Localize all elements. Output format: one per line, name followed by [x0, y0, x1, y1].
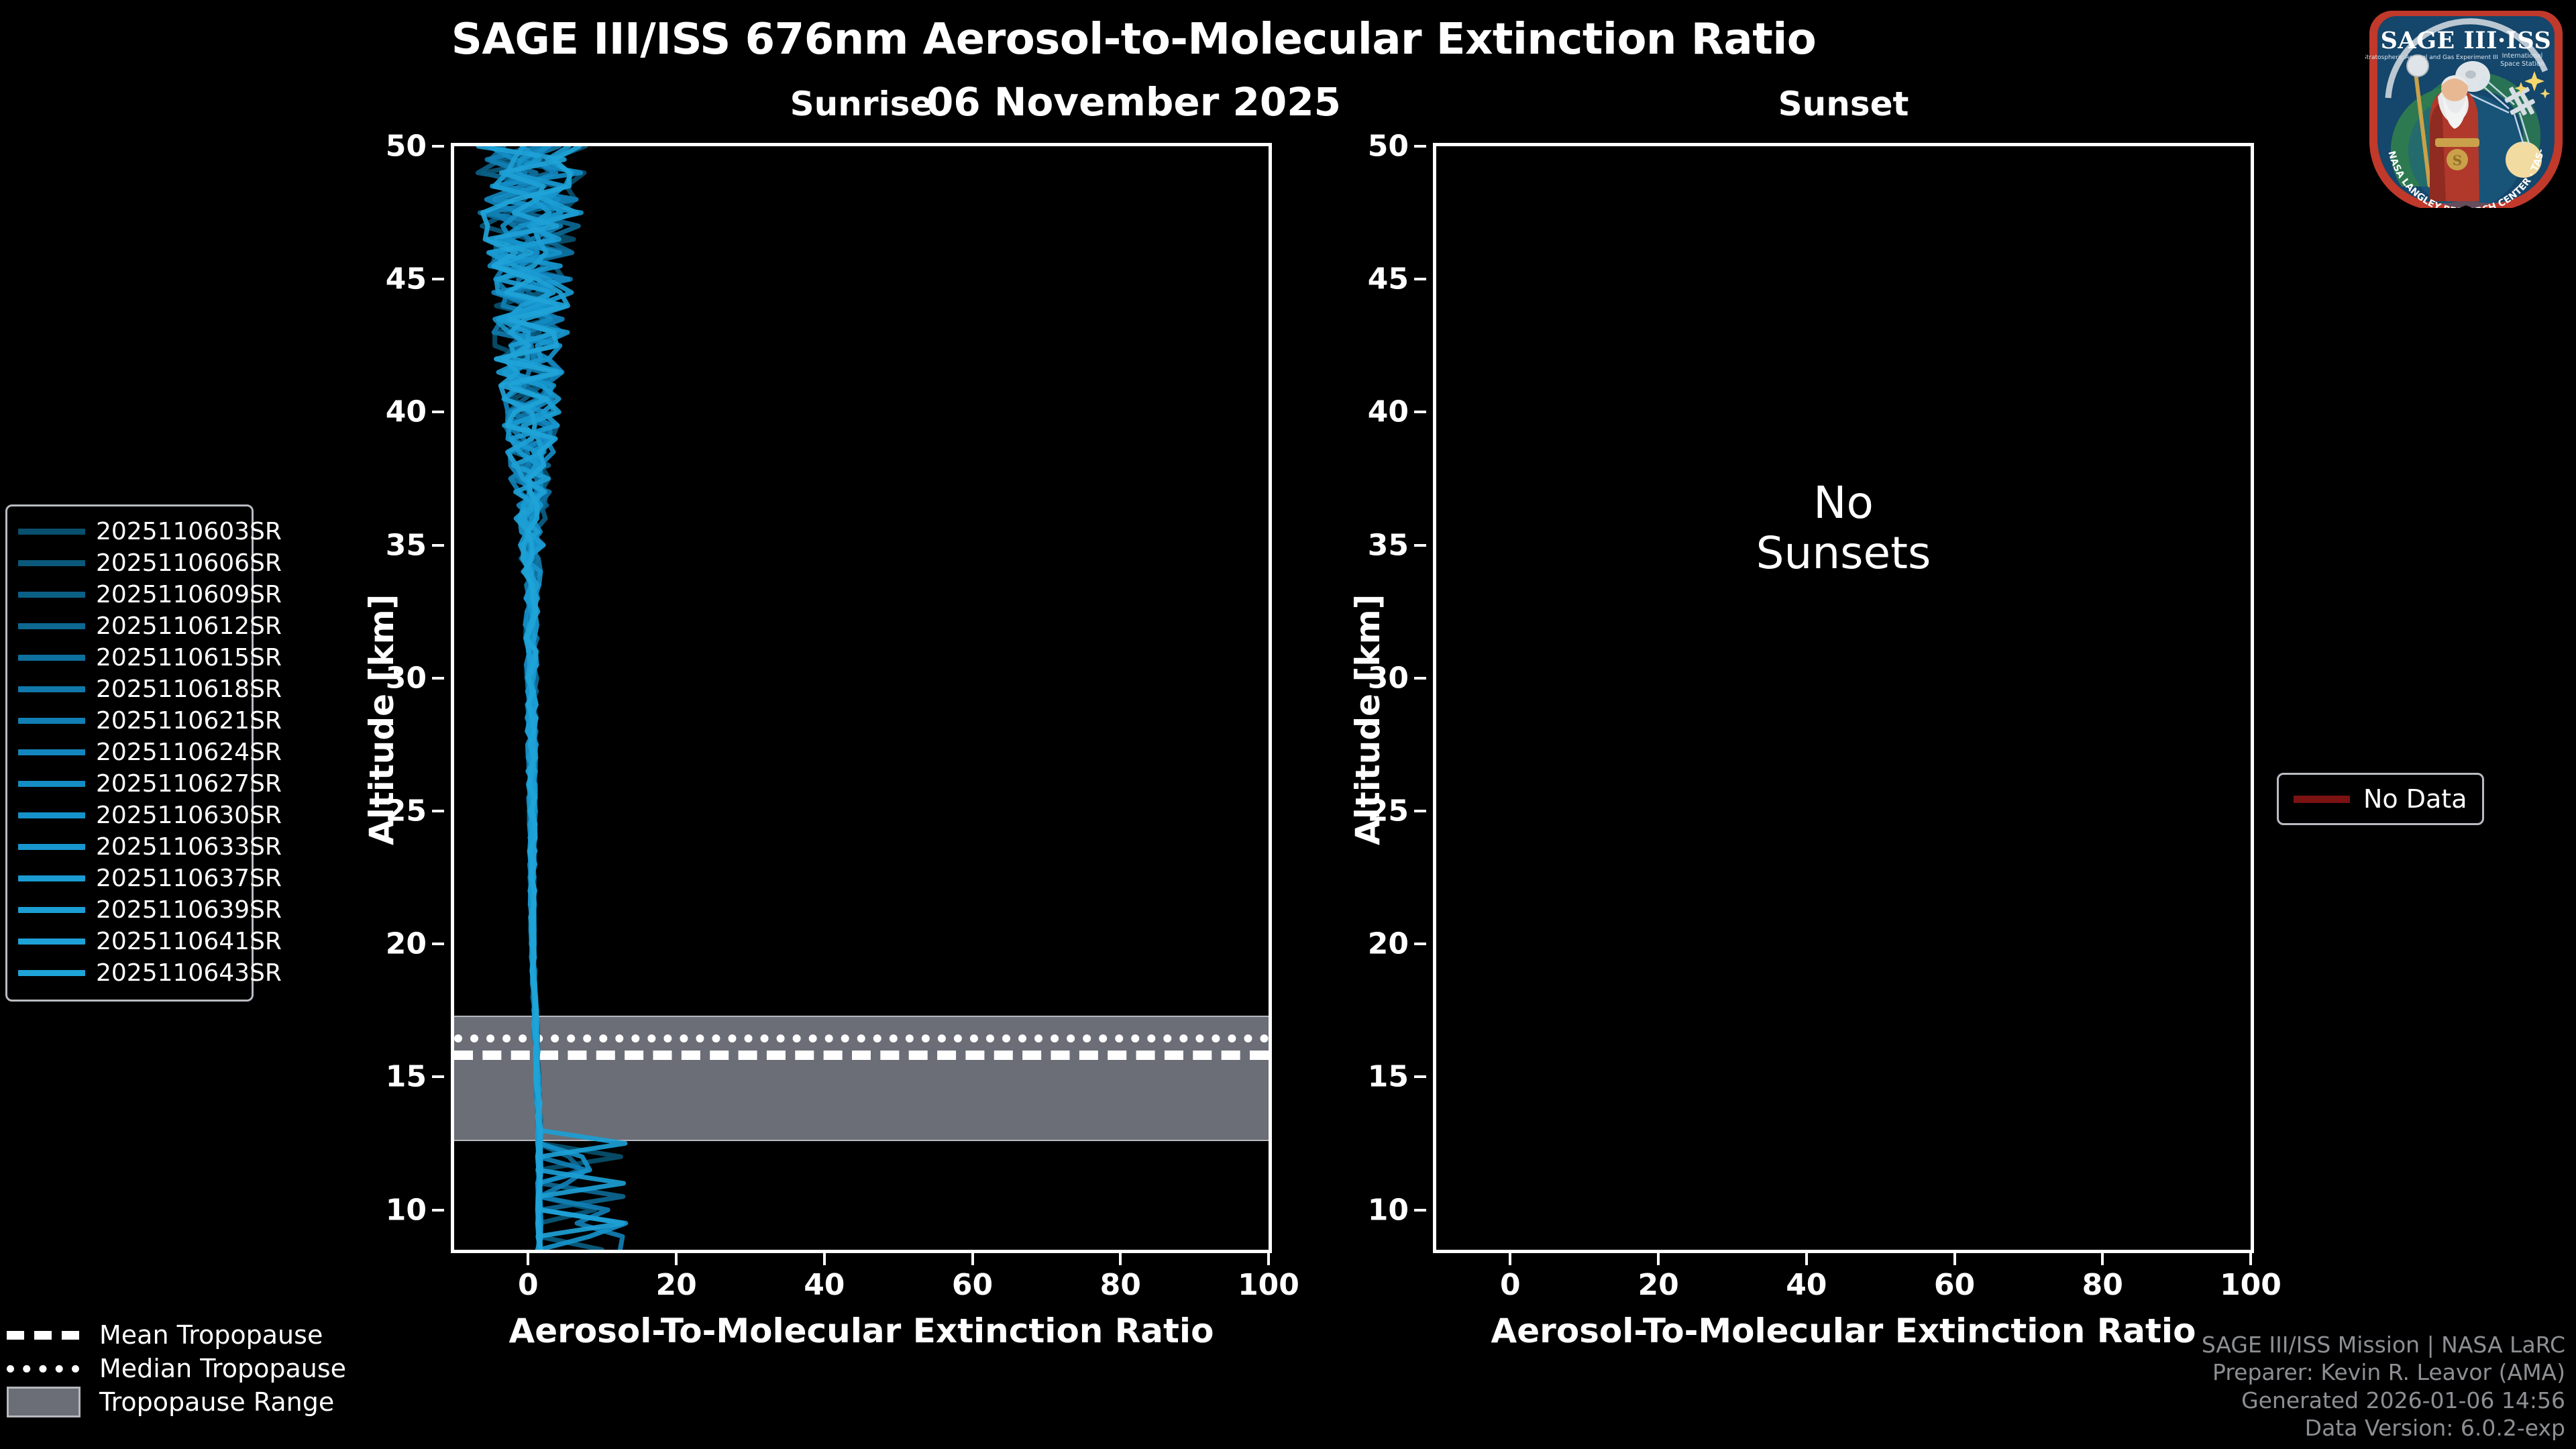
sunset-plot-area: No Sunsets [1433, 143, 2254, 1253]
x-tick-mark [1805, 1253, 1808, 1265]
legend-label: Tropopause Range [99, 1387, 334, 1417]
series-line-swatch-icon [18, 875, 85, 881]
sunset-x-axis-ticks: 020406080100 [1436, 1253, 2251, 1313]
legend-item-tropopause-range: Tropopause Range [7, 1385, 295, 1419]
sage-iii-iss-mission-patch-logo: S SAGE III·ISS Stratospheric Aerosol and… [2365, 7, 2567, 208]
x-tick-mark [1509, 1253, 1511, 1265]
svg-text:S: S [2453, 152, 2462, 168]
series-line-swatch-icon [18, 812, 85, 818]
series-line-swatch-icon [18, 529, 85, 535]
mean-tropopause-dash-icon [7, 1331, 87, 1340]
y-tick-mark [432, 544, 444, 547]
y-tick-mark [432, 1209, 444, 1212]
x-tick-label: 100 [2220, 1268, 2282, 1302]
series-line-swatch-icon [18, 592, 85, 598]
y-tick-mark [1414, 1209, 1426, 1212]
series-legend-label: 2025110637SR [96, 865, 282, 892]
series-line-swatch-icon [18, 844, 85, 850]
x-tick-label: 80 [1100, 1268, 1141, 1302]
x-tick-label: 100 [1238, 1268, 1299, 1302]
y-tick-mark [432, 943, 444, 945]
legend-item-series[interactable]: 2025110639SR [14, 894, 245, 926]
sunrise-y-axis-title: Altitude [km] [362, 594, 401, 845]
x-tick-mark [675, 1253, 678, 1265]
y-tick-mark [432, 810, 444, 812]
series-legend-label: 2025110621SR [96, 707, 282, 735]
series-legend-label: 2025110618SR [96, 676, 282, 703]
y-tick-label: 15 [386, 1060, 427, 1094]
y-tick-mark [432, 278, 444, 280]
page-title: SAGE III/ISS 676nm Aerosol-to-Molecular … [0, 15, 2267, 64]
y-tick-mark [1414, 1075, 1426, 1078]
y-tick-mark [1414, 145, 1426, 148]
series-line-swatch-icon [18, 686, 85, 692]
series-legend-label: 2025110615SR [96, 644, 282, 672]
sunrise-x-axis-title: Aerosol-To-Molecular Extinction Ratio [451, 1311, 1272, 1350]
series-legend-label: 2025110624SR [96, 739, 282, 766]
footer-credits: SAGE III/ISS Mission | NASA LaRC Prepare… [2202, 1331, 2565, 1442]
legend-label: Median Tropopause [99, 1354, 346, 1383]
legend-item-series[interactable]: 2025110643SR [14, 957, 245, 989]
legend-item-series[interactable]: 2025110641SR [14, 926, 245, 957]
sunrise-x-axis-ticks: 020406080100 [454, 1253, 1269, 1313]
y-tick-mark [1414, 278, 1426, 280]
x-tick-mark [2249, 1253, 2252, 1265]
no-sunsets-line2: Sunsets [1436, 528, 2251, 579]
y-tick-label: 10 [1368, 1193, 1409, 1227]
series-line-swatch-icon [18, 970, 85, 976]
legend-item-series[interactable]: 2025110637SR [14, 863, 245, 894]
x-tick-label: 20 [1638, 1268, 1678, 1302]
legend-item-series[interactable]: 2025110615SR [14, 642, 245, 674]
legend-item-series[interactable]: 2025110609SR [14, 579, 245, 610]
series-legend-label: 2025110633SR [96, 833, 282, 861]
legend-label: Mean Tropopause [99, 1320, 323, 1350]
footer-line-mission: SAGE III/ISS Mission | NASA LaRC [2202, 1331, 2565, 1359]
legend-item-series[interactable]: 2025110618SR [14, 674, 245, 705]
logo-subtitle-left: Stratospheric Aerosol and Gas Experiment… [2365, 54, 2498, 61]
x-tick-mark [823, 1253, 826, 1265]
x-tick-label: 60 [1934, 1268, 1975, 1302]
sunset-panel-label: Sunset [1433, 85, 2254, 123]
sunrise-series-legend[interactable]: 2025110603SR2025110606SR2025110609SR2025… [5, 504, 254, 1002]
y-tick-label: 20 [1368, 927, 1409, 961]
legend-item-series[interactable]: 2025110627SR [14, 768, 245, 800]
logo-subtitle-right-1: International [2502, 52, 2543, 60]
x-tick-mark [1953, 1253, 1956, 1265]
legend-item-median-tropopause: Median Tropopause [7, 1352, 295, 1385]
series-legend-label: 2025110643SR [96, 959, 282, 987]
x-tick-mark [527, 1253, 529, 1265]
nodata-line-swatch-icon [2294, 796, 2350, 803]
x-tick-mark [1657, 1253, 1660, 1265]
series-line-swatch-icon [18, 560, 85, 566]
tropopause-legend: Mean Tropopause Median Tropopause Tropop… [7, 1318, 295, 1419]
y-tick-label: 50 [1368, 129, 1409, 164]
series-line-swatch-icon [18, 655, 85, 661]
series-legend-label: 2025110627SR [96, 770, 282, 798]
y-tick-label: 10 [386, 1193, 427, 1227]
median-tropopause-dot-icon [7, 1365, 87, 1373]
series-legend-label: 2025110606SR [96, 549, 282, 577]
x-tick-label: 0 [1500, 1268, 1521, 1302]
series-legend-label: 2025110612SR [96, 612, 282, 640]
y-tick-mark [432, 411, 444, 413]
legend-item-series[interactable]: 2025110612SR [14, 610, 245, 642]
footer-line-version: Data Version: 6.0.2-exp [2202, 1414, 2565, 1442]
data-series-line [483, 146, 580, 1250]
x-tick-label: 80 [2082, 1268, 2123, 1302]
y-tick-mark [1414, 943, 1426, 945]
legend-item-series[interactable]: 2025110606SR [14, 547, 245, 579]
y-tick-label: 15 [1368, 1060, 1409, 1094]
series-legend-label: 2025110630SR [96, 802, 282, 829]
no-sunsets-message: No Sunsets [1436, 478, 2251, 580]
no-sunsets-line1: No [1436, 478, 2251, 529]
sunrise-data-curves [454, 146, 1269, 1250]
x-tick-label: 40 [1786, 1268, 1827, 1302]
data-series-line [494, 146, 625, 1250]
x-tick-mark [2101, 1253, 2104, 1265]
y-tick-label: 40 [386, 395, 427, 429]
legend-item-series[interactable]: 2025110630SR [14, 800, 245, 831]
y-tick-label: 35 [386, 528, 427, 562]
footer-line-generated: Generated 2026-01-06 14:56 [2202, 1387, 2565, 1415]
legend-item-series[interactable]: 2025110624SR [14, 737, 245, 768]
footer-line-preparer: Preparer: Kevin R. Leavor (AMA) [2202, 1358, 2565, 1387]
series-line-swatch-icon [18, 749, 85, 755]
x-tick-mark [1267, 1253, 1270, 1265]
sunset-nodata-legend[interactable]: No Data [2277, 773, 2484, 825]
x-tick-mark [971, 1253, 974, 1265]
tropopause-range-box-icon [7, 1387, 87, 1417]
y-tick-mark [432, 677, 444, 680]
series-legend-label: 2025110641SR [96, 928, 282, 955]
series-line-swatch-icon [18, 907, 85, 913]
y-tick-label: 45 [1368, 262, 1409, 297]
x-tick-label: 40 [804, 1268, 845, 1302]
sunrise-plot-area [451, 143, 1272, 1253]
sunrise-panel-label: Sunrise [451, 85, 1272, 123]
y-tick-label: 45 [386, 262, 427, 297]
y-tick-mark [1414, 810, 1426, 812]
y-tick-mark [432, 145, 444, 148]
series-legend-label: 2025110639SR [96, 896, 282, 924]
y-tick-label: 40 [1368, 395, 1409, 429]
y-tick-mark [1414, 411, 1426, 413]
legend-item-series[interactable]: 2025110621SR [14, 705, 245, 737]
x-tick-label: 60 [952, 1268, 993, 1302]
series-legend-label: 2025110609SR [96, 581, 282, 608]
y-tick-label: 35 [1368, 528, 1409, 562]
logo-subtitle-right-2: Space Station [2500, 60, 2544, 68]
x-tick-mark [1119, 1253, 1122, 1265]
logo-title: SAGE III·ISS [2381, 27, 2552, 54]
x-tick-label: 0 [518, 1268, 539, 1302]
series-legend-label: 2025110603SR [96, 518, 282, 545]
y-tick-mark [432, 1075, 444, 1078]
sunset-y-axis-title: Altitude [km] [1348, 594, 1387, 845]
legend-item-mean-tropopause: Mean Tropopause [7, 1318, 295, 1352]
y-tick-mark [1414, 677, 1426, 680]
series-line-swatch-icon [18, 938, 85, 945]
nodata-legend-label: No Data [2363, 784, 2467, 814]
series-line-swatch-icon [18, 623, 85, 629]
x-tick-label: 20 [655, 1268, 696, 1302]
legend-item-series[interactable]: 2025110603SR [14, 516, 245, 547]
y-tick-label: 50 [386, 129, 427, 164]
series-line-swatch-icon [18, 781, 85, 787]
sunset-x-axis-title: Aerosol-To-Molecular Extinction Ratio [1433, 1311, 2254, 1350]
y-tick-mark [1414, 544, 1426, 547]
y-tick-label: 20 [386, 927, 427, 961]
series-line-swatch-icon [18, 718, 85, 724]
legend-item-series[interactable]: 2025110633SR [14, 831, 245, 863]
